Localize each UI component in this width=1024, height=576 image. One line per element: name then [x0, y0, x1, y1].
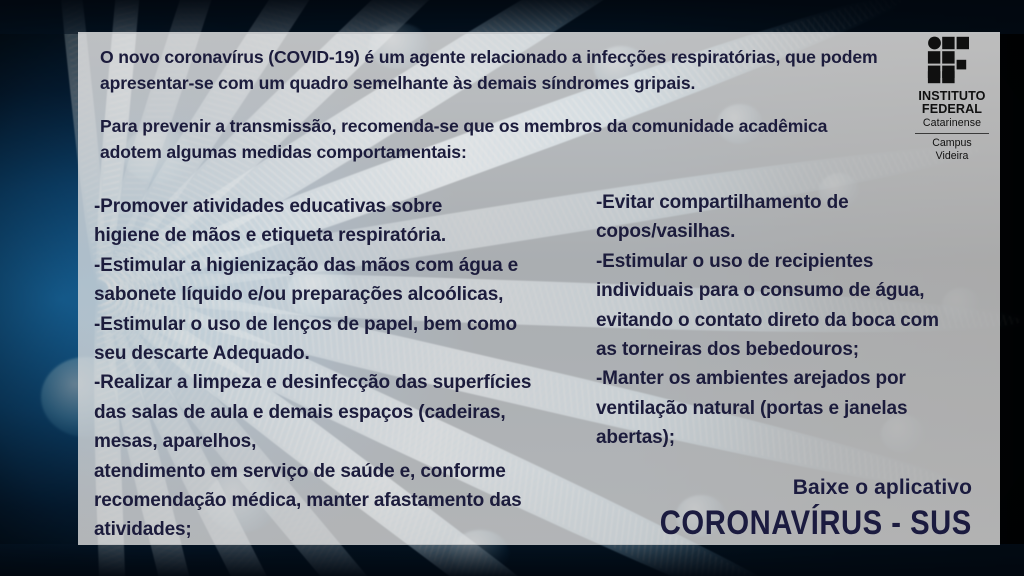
measure-left-line: mesas, aparelhos,: [94, 427, 594, 456]
background-bottom-band: [0, 544, 1024, 576]
measure-right-line: -Estimular o uso de recipientes: [596, 247, 988, 276]
intro-block: O novo coronavírus (COVID-19) é um agent…: [100, 44, 890, 165]
ifc-grid-mark-icon: [927, 36, 977, 84]
measure-right-line: copos/vasilhas.: [596, 217, 988, 246]
measure-right-line: ventilação natural (portas e janelas: [596, 394, 988, 423]
intro-paragraph-2: Para prevenir a transmissão, recomenda-s…: [100, 113, 890, 165]
measure-right-line: -Evitar compartilhamento de: [596, 188, 988, 217]
measure-right-line: abertas);: [596, 423, 988, 452]
measure-left-line: -Promover atividades educativas sobre: [94, 192, 594, 221]
logo-divider: [915, 133, 989, 134]
measure-right-line: individuais para o consumo de água,: [596, 276, 988, 305]
logo-line-instituto: INSTITUTO: [904, 90, 1000, 103]
measure-left-line: recomendação médica, manter afastamento …: [94, 486, 594, 515]
measure-left-line: -Estimular o uso de lenços de papel, bem…: [94, 310, 594, 339]
measure-right-line: evitando o contato direto da boca com: [596, 306, 988, 335]
logo-line-videira: Videira: [904, 150, 1000, 163]
poster-canvas: O novo coronavírus (COVID-19) é um agent…: [0, 0, 1024, 576]
measure-left-line: atendimento em serviço de saúde e, confo…: [94, 457, 594, 486]
measure-left-line: sabonete líquido e/ou preparações alcoól…: [94, 280, 594, 309]
measure-right-line: as torneiras dos bebedouros;: [596, 335, 988, 364]
measure-right-line: -Manter os ambientes arejados por: [596, 364, 988, 393]
background-top-band: [0, 0, 1024, 34]
logo-line-campus: Campus: [904, 137, 1000, 150]
measure-left-line: das salas de aula e demais espaços (cade…: [94, 398, 594, 427]
measure-left-line: atividades;: [94, 515, 594, 544]
app-callout: Baixe o aplicativo CORONAVÍRUS - SUS: [609, 474, 972, 544]
measure-left-line: -Realizar a limpeza e desinfecção das su…: [94, 368, 594, 397]
measure-left-line: higiene de mãos e etiqueta respiratória.: [94, 221, 594, 250]
measures-left-column: -Promover atividades educativas sobrehig…: [94, 192, 594, 545]
ifc-logo: INSTITUTO FEDERAL Catarinense Campus Vid…: [904, 36, 1000, 162]
measures-right-column: -Evitar compartilhamento decopos/vasilha…: [596, 188, 988, 453]
logo-line-catarinense: Catarinense: [904, 116, 1000, 130]
measure-left-line: seu descarte Adequado.: [94, 339, 594, 368]
app-callout-title: CORONAVÍRUS - SUS: [660, 502, 972, 544]
app-callout-subtitle: Baixe o aplicativo: [609, 474, 972, 502]
measure-left-line: -Estimular a higienização das mãos com á…: [94, 251, 594, 280]
intro-paragraph-1: O novo coronavírus (COVID-19) é um agent…: [100, 44, 890, 96]
logo-line-federal: FEDERAL: [904, 103, 1000, 116]
